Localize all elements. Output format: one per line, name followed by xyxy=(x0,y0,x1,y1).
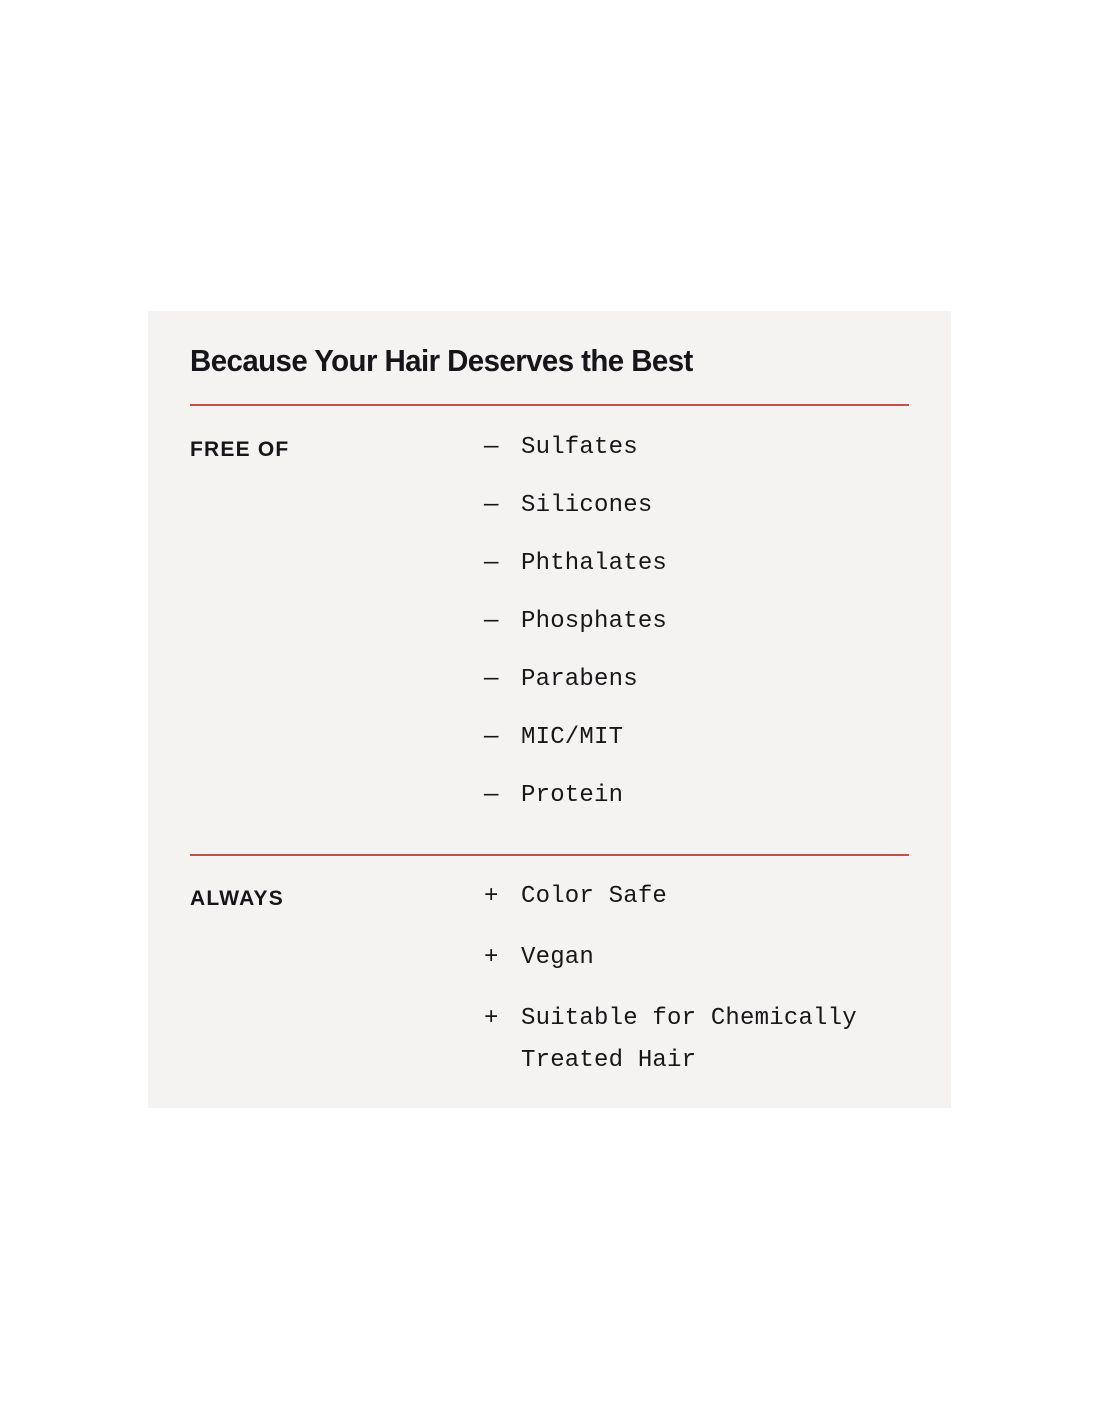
product-spec-card: Because Your Hair Deserves the Best FREE… xyxy=(148,311,951,1108)
dash-marker-icon: — xyxy=(484,435,521,461)
list-item: + Color Safe xyxy=(484,884,920,918)
plus-marker-icon: + xyxy=(484,884,521,910)
list-item: — Parabens xyxy=(484,667,920,693)
always-list: + Color Safe + Vegan + Suitable for Chem… xyxy=(484,884,920,1082)
section-label-free-of: FREE OF xyxy=(190,435,484,465)
list-item-label: Vegan xyxy=(521,937,913,979)
list-item: — Protein xyxy=(484,783,920,809)
page-root: Because Your Hair Deserves the Best FREE… xyxy=(0,0,1100,1422)
divider-top xyxy=(190,404,909,406)
list-item-label: Parabens xyxy=(521,667,913,693)
dash-marker-icon: — xyxy=(484,609,521,635)
list-item-label: Color Safe xyxy=(521,876,913,918)
page-title: Because Your Hair Deserves the Best xyxy=(190,342,693,380)
section-label-always: ALWAYS xyxy=(190,884,484,914)
section-always: ALWAYS + Color Safe + Vegan + Suitable f… xyxy=(190,884,920,1082)
section-free-of: FREE OF — Sulfates — Silicones — Phthala… xyxy=(190,435,920,809)
list-item: + Suitable for Chemically Treated Hair xyxy=(484,1006,920,1082)
dash-marker-icon: — xyxy=(484,783,521,809)
list-item-label: Silicones xyxy=(521,493,913,519)
divider-middle xyxy=(190,854,909,856)
list-item: — MIC/MIT xyxy=(484,725,920,751)
list-item: — Phthalates xyxy=(484,551,920,577)
list-item-label: Sulfates xyxy=(521,435,913,461)
free-of-list: — Sulfates — Silicones — Phthalates — Ph… xyxy=(484,435,920,809)
list-item-label: Phosphates xyxy=(521,609,913,635)
plus-marker-icon: + xyxy=(484,1006,521,1032)
list-item: — Phosphates xyxy=(484,609,920,635)
list-item-label: Suitable for Chemically Treated Hair xyxy=(521,998,913,1082)
plus-marker-icon: + xyxy=(484,945,521,971)
list-item-label: MIC/MIT xyxy=(521,725,913,751)
dash-marker-icon: — xyxy=(484,551,521,577)
list-item: — Sulfates xyxy=(484,435,920,461)
list-item: + Vegan xyxy=(484,945,920,979)
dash-marker-icon: — xyxy=(484,725,521,751)
list-item-label: Phthalates xyxy=(521,551,913,577)
list-item: — Silicones xyxy=(484,493,920,519)
dash-marker-icon: — xyxy=(484,667,521,693)
dash-marker-icon: — xyxy=(484,493,521,519)
list-item-label: Protein xyxy=(521,783,913,809)
